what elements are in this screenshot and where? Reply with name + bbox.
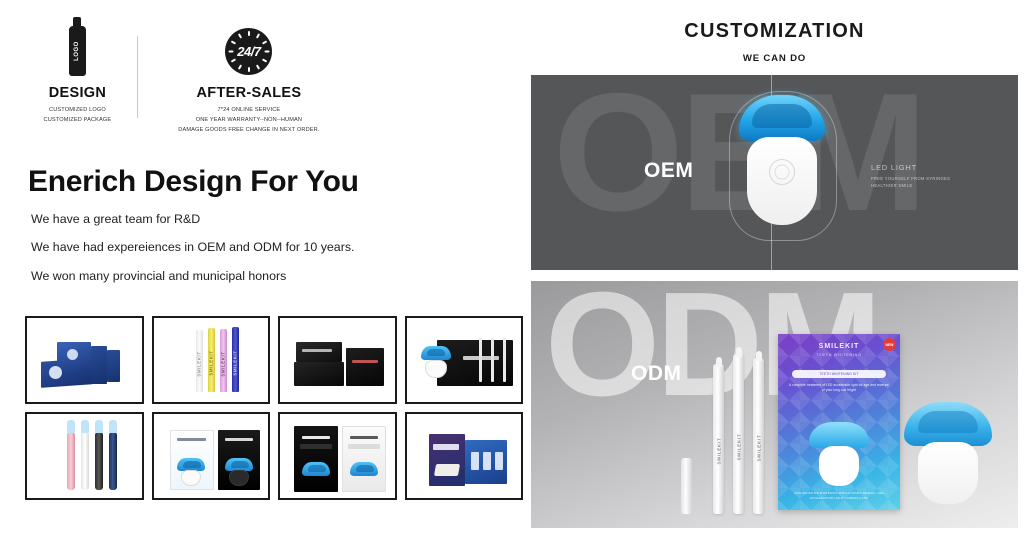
oem-led-note-line-1: FREE YOURSELF FROM SYRINGES xyxy=(871,176,950,183)
odm-box-brand-name: SMILEKIT xyxy=(819,343,860,350)
right-column: CUSTOMIZATION WE CAN DO OEM OEM LED LIGH… xyxy=(525,0,1024,534)
oem-led-note-title: LED LIGHT xyxy=(871,163,950,172)
customization-subtitle: WE CAN DO xyxy=(525,53,1024,64)
feature-design-title: DESIGN xyxy=(49,85,106,101)
feature-after-sales-sub-line-1: 7*24 ONLINE SERVICE xyxy=(178,106,319,116)
pen-brand-label: SMILEKIT xyxy=(221,351,226,376)
feature-after-sales-title: AFTER-SALES xyxy=(197,85,302,101)
odm-pen-label: SMILEKIT xyxy=(756,435,761,462)
clock-24-7-icon: 24/7 xyxy=(225,20,272,82)
marketing-page: LOGO DESIGN CUSTOMIZED LOGO CUSTOMIZED P… xyxy=(0,0,1024,534)
left-column: LOGO DESIGN CUSTOMIZED LOGO CUSTOMIZED P… xyxy=(0,0,525,534)
oem-led-note: LED LIGHT FREE YOURSELF FROM SYRINGES HE… xyxy=(871,163,950,189)
odm-box-device-art xyxy=(809,422,869,486)
odm-box-brand: SMILEKIT TEETH WHITENING xyxy=(778,343,900,357)
bullet-item: We won many provincial and municipal hon… xyxy=(31,270,491,282)
oem-panel[interactable]: OEM OEM LED LIGHT FREE YOURSELF FROM SYR… xyxy=(531,75,1018,270)
pen-brand-label: SMILEKIT xyxy=(197,351,202,376)
odm-box-brand-sub: TEETH WHITENING xyxy=(778,353,900,357)
gallery-row-2 xyxy=(25,412,523,500)
oem-tag: OEM xyxy=(644,159,693,183)
gallery-tile-white-strips-box[interactable] xyxy=(405,412,524,500)
gallery-tile-blue-box-set[interactable] xyxy=(25,316,144,404)
gallery-row-1: SMILEKIT SMILEKIT SMILEKIT SMILEKIT xyxy=(25,316,523,404)
feature-design-sub-line-1: CUSTOMIZED LOGO xyxy=(44,106,112,116)
odm-box-pill: TEETH WHITENING KIT xyxy=(792,370,886,378)
bullet-item: We have had expereiences in OEM and ODM … xyxy=(31,241,491,253)
feature-design: LOGO DESIGN CUSTOMIZED LOGO CUSTOMIZED P… xyxy=(18,20,137,140)
odm-panel[interactable]: ODM ODM SMILEKIT SMILEKIT SMILEKIT NEW S… xyxy=(531,281,1018,528)
odm-tag: ODM xyxy=(631,362,682,386)
gallery-tile-color-pens[interactable]: SMILEKIT SMILEKIT SMILEKIT SMILEKIT xyxy=(152,316,271,404)
feature-after-sales: 24/7 AFTER-SALES 7*24 ONLINE SERVICE ONE… xyxy=(150,20,348,140)
clock-face-text: 24/7 xyxy=(237,44,260,59)
product-gallery: SMILEKIT SMILEKIT SMILEKIT SMILEKIT xyxy=(25,316,523,500)
gallery-tile-light-dark-packs[interactable] xyxy=(152,412,271,500)
bottle-logo-icon: LOGO xyxy=(69,20,86,82)
pen-brand-label: SMILEKIT xyxy=(209,351,214,376)
bullet-list: We have a great team for R&D We have had… xyxy=(31,213,491,298)
odm-box-footer: NON-SENSITIVE WHITENING WITH A COMFY DES… xyxy=(786,491,892,501)
gallery-tile-electric-toothbrushes[interactable] xyxy=(25,412,144,500)
odm-pen-cap xyxy=(681,458,692,514)
page-title: Enerich Design For You xyxy=(28,165,359,199)
gallery-tile-device-syringes[interactable] xyxy=(405,316,524,404)
pen-brand-label: SMILEKIT xyxy=(233,350,238,375)
feature-divider xyxy=(137,36,138,118)
feature-after-sales-sub-line-2: ONE YEAR WARRANTY--NON--HUMAN xyxy=(178,116,319,126)
odm-device-image xyxy=(904,402,992,506)
feature-design-sub-line-2: CUSTOMIZED PACKAGE xyxy=(44,116,112,126)
feature-after-sales-sub: 7*24 ONLINE SERVICE ONE YEAR WARRANTY--N… xyxy=(178,106,319,135)
gallery-tile-black-boxes[interactable] xyxy=(278,316,397,404)
bottle-logo-text: LOGO xyxy=(74,41,80,61)
odm-pen-label: SMILEKIT xyxy=(716,437,721,464)
odm-pen-label: SMILEKIT xyxy=(736,433,741,460)
odm-box-description: A complete treatment of LED accelerator … xyxy=(788,383,890,393)
feature-after-sales-sub-line-3: DAMAGE GOODS FREE CHANGE IN NEXT ORDER. xyxy=(178,126,319,136)
odm-retail-box: NEW SMILEKIT TEETH WHITENING TEETH WHITE… xyxy=(778,334,900,510)
odm-box-pill-text: TEETH WHITENING KIT xyxy=(792,370,886,378)
feature-row: LOGO DESIGN CUSTOMIZED LOGO CUSTOMIZED P… xyxy=(18,20,348,140)
oem-device-image xyxy=(721,89,841,264)
feature-design-sub: CUSTOMIZED LOGO CUSTOMIZED PACKAGE xyxy=(44,106,112,126)
bullet-item: We have a great team for R&D xyxy=(31,213,491,225)
oem-led-note-line-2: HEALTHIER SMILE xyxy=(871,183,950,190)
customization-title: CUSTOMIZATION xyxy=(525,20,1024,43)
gallery-tile-black-white-packs[interactable] xyxy=(278,412,397,500)
